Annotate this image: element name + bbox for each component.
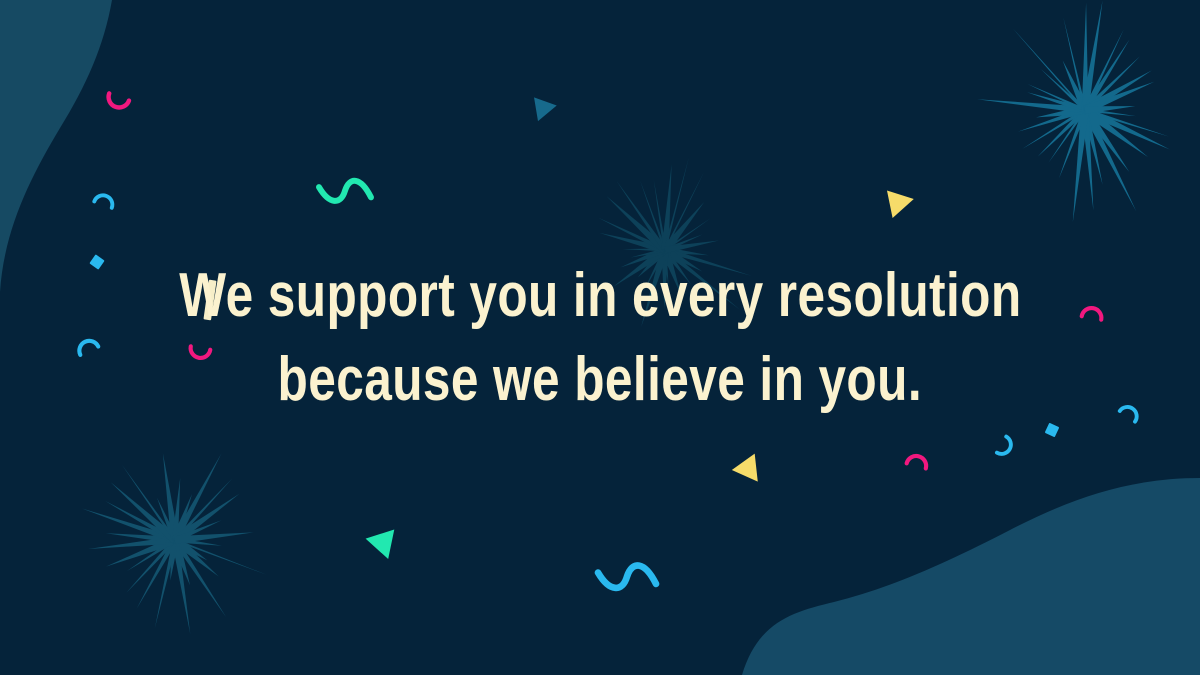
quote-line-1: We support you in every resolution: [179, 254, 1021, 338]
quote-slide: We support you in every resolution becau…: [0, 0, 1200, 675]
quote-line-2: because we believe in you.: [278, 338, 922, 422]
quote-text-block: We support you in every resolution becau…: [0, 0, 1200, 675]
